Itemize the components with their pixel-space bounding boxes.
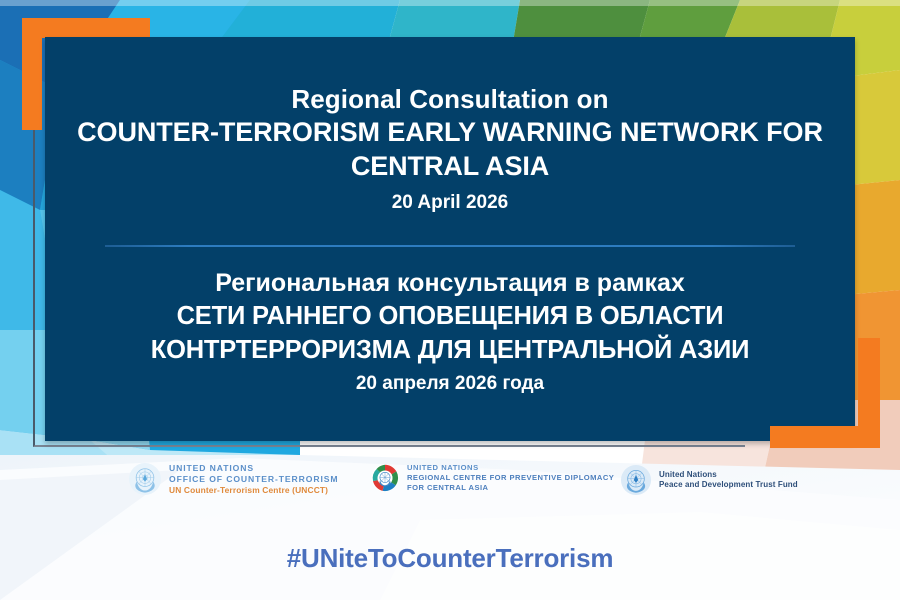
logo-unrcca: UNITED NATIONS REGIONAL CENTRE FOR PREVE… (370, 463, 614, 493)
title-divider (105, 245, 795, 247)
logo-un-peace-dev-fund: United Nations Peace and Development Tru… (620, 464, 798, 496)
english-title-line3: CENTRAL ASIA (71, 151, 829, 183)
logo-unoct-line2: OFFICE OF COUNTER-TERRORISM (169, 474, 338, 485)
russian-title-line1: Региональная консультация в рамках (59, 269, 841, 298)
russian-title-block: Региональная консультация в рамках СЕТИ … (45, 269, 855, 395)
logo-unrcca-text: UNITED NATIONS REGIONAL CENTRE FOR PREVE… (407, 463, 614, 492)
bracket-arm-horizontal (770, 426, 880, 448)
logo-unrcca-line1: UNITED NATIONS (407, 463, 614, 473)
english-date: 20 April 2026 (71, 192, 829, 214)
logo-unrcca-line3: FOR CENTRAL ASIA (407, 483, 614, 493)
un-emblem-icon (620, 464, 652, 496)
unrcca-emblem-icon (370, 463, 400, 493)
campaign-hashtag: #UNiteToCounterTerrorism (0, 543, 900, 574)
russian-title-line2: СЕТИ РАННЕГО ОПОВЕЩЕНИЯ В ОБЛАСТИ (59, 301, 841, 332)
un-emblem-icon (128, 462, 162, 496)
orange-bracket-bottom-right (770, 338, 880, 448)
logo-strip: UNITED NATIONS OFFICE OF COUNTER-TERRORI… (0, 458, 900, 514)
slide-canvas: Regional Consultation on COUNTER-TERRORI… (0, 0, 900, 600)
logo-unoct-line1: UNITED NATIONS (169, 463, 338, 474)
logo-unoct-text: UNITED NATIONS OFFICE OF COUNTER-TERRORI… (169, 463, 338, 496)
bracket-arm-vertical (22, 18, 42, 130)
english-title-block: Regional Consultation on COUNTER-TERRORI… (45, 85, 855, 214)
logo-unoct: UNITED NATIONS OFFICE OF COUNTER-TERRORI… (128, 462, 338, 496)
logo-unrcca-line2: REGIONAL CENTRE FOR PREVENTIVE DIPLOMACY (407, 473, 614, 483)
logo-pdtf-line2: Peace and Development Trust Fund (659, 480, 798, 490)
title-panel: Regional Consultation on COUNTER-TERRORI… (45, 37, 855, 441)
english-title-line1: Regional Consultation on (71, 85, 829, 115)
russian-title-line3: КОНТРТЕРРОРИЗМА ДЛЯ ЦЕНТРАЛЬНОЙ АЗИИ (59, 335, 841, 366)
logo-unoct-line3: UN Counter-Terrorism Centre (UNCCT) (169, 485, 338, 496)
logo-un-peace-dev-fund-text: United Nations Peace and Development Tru… (659, 470, 798, 490)
english-title-line2: COUNTER-TERRORISM EARLY WARNING NETWORK … (71, 117, 829, 149)
russian-date: 20 апреля 2026 года (59, 373, 841, 395)
logo-pdtf-line1: United Nations (659, 470, 798, 480)
